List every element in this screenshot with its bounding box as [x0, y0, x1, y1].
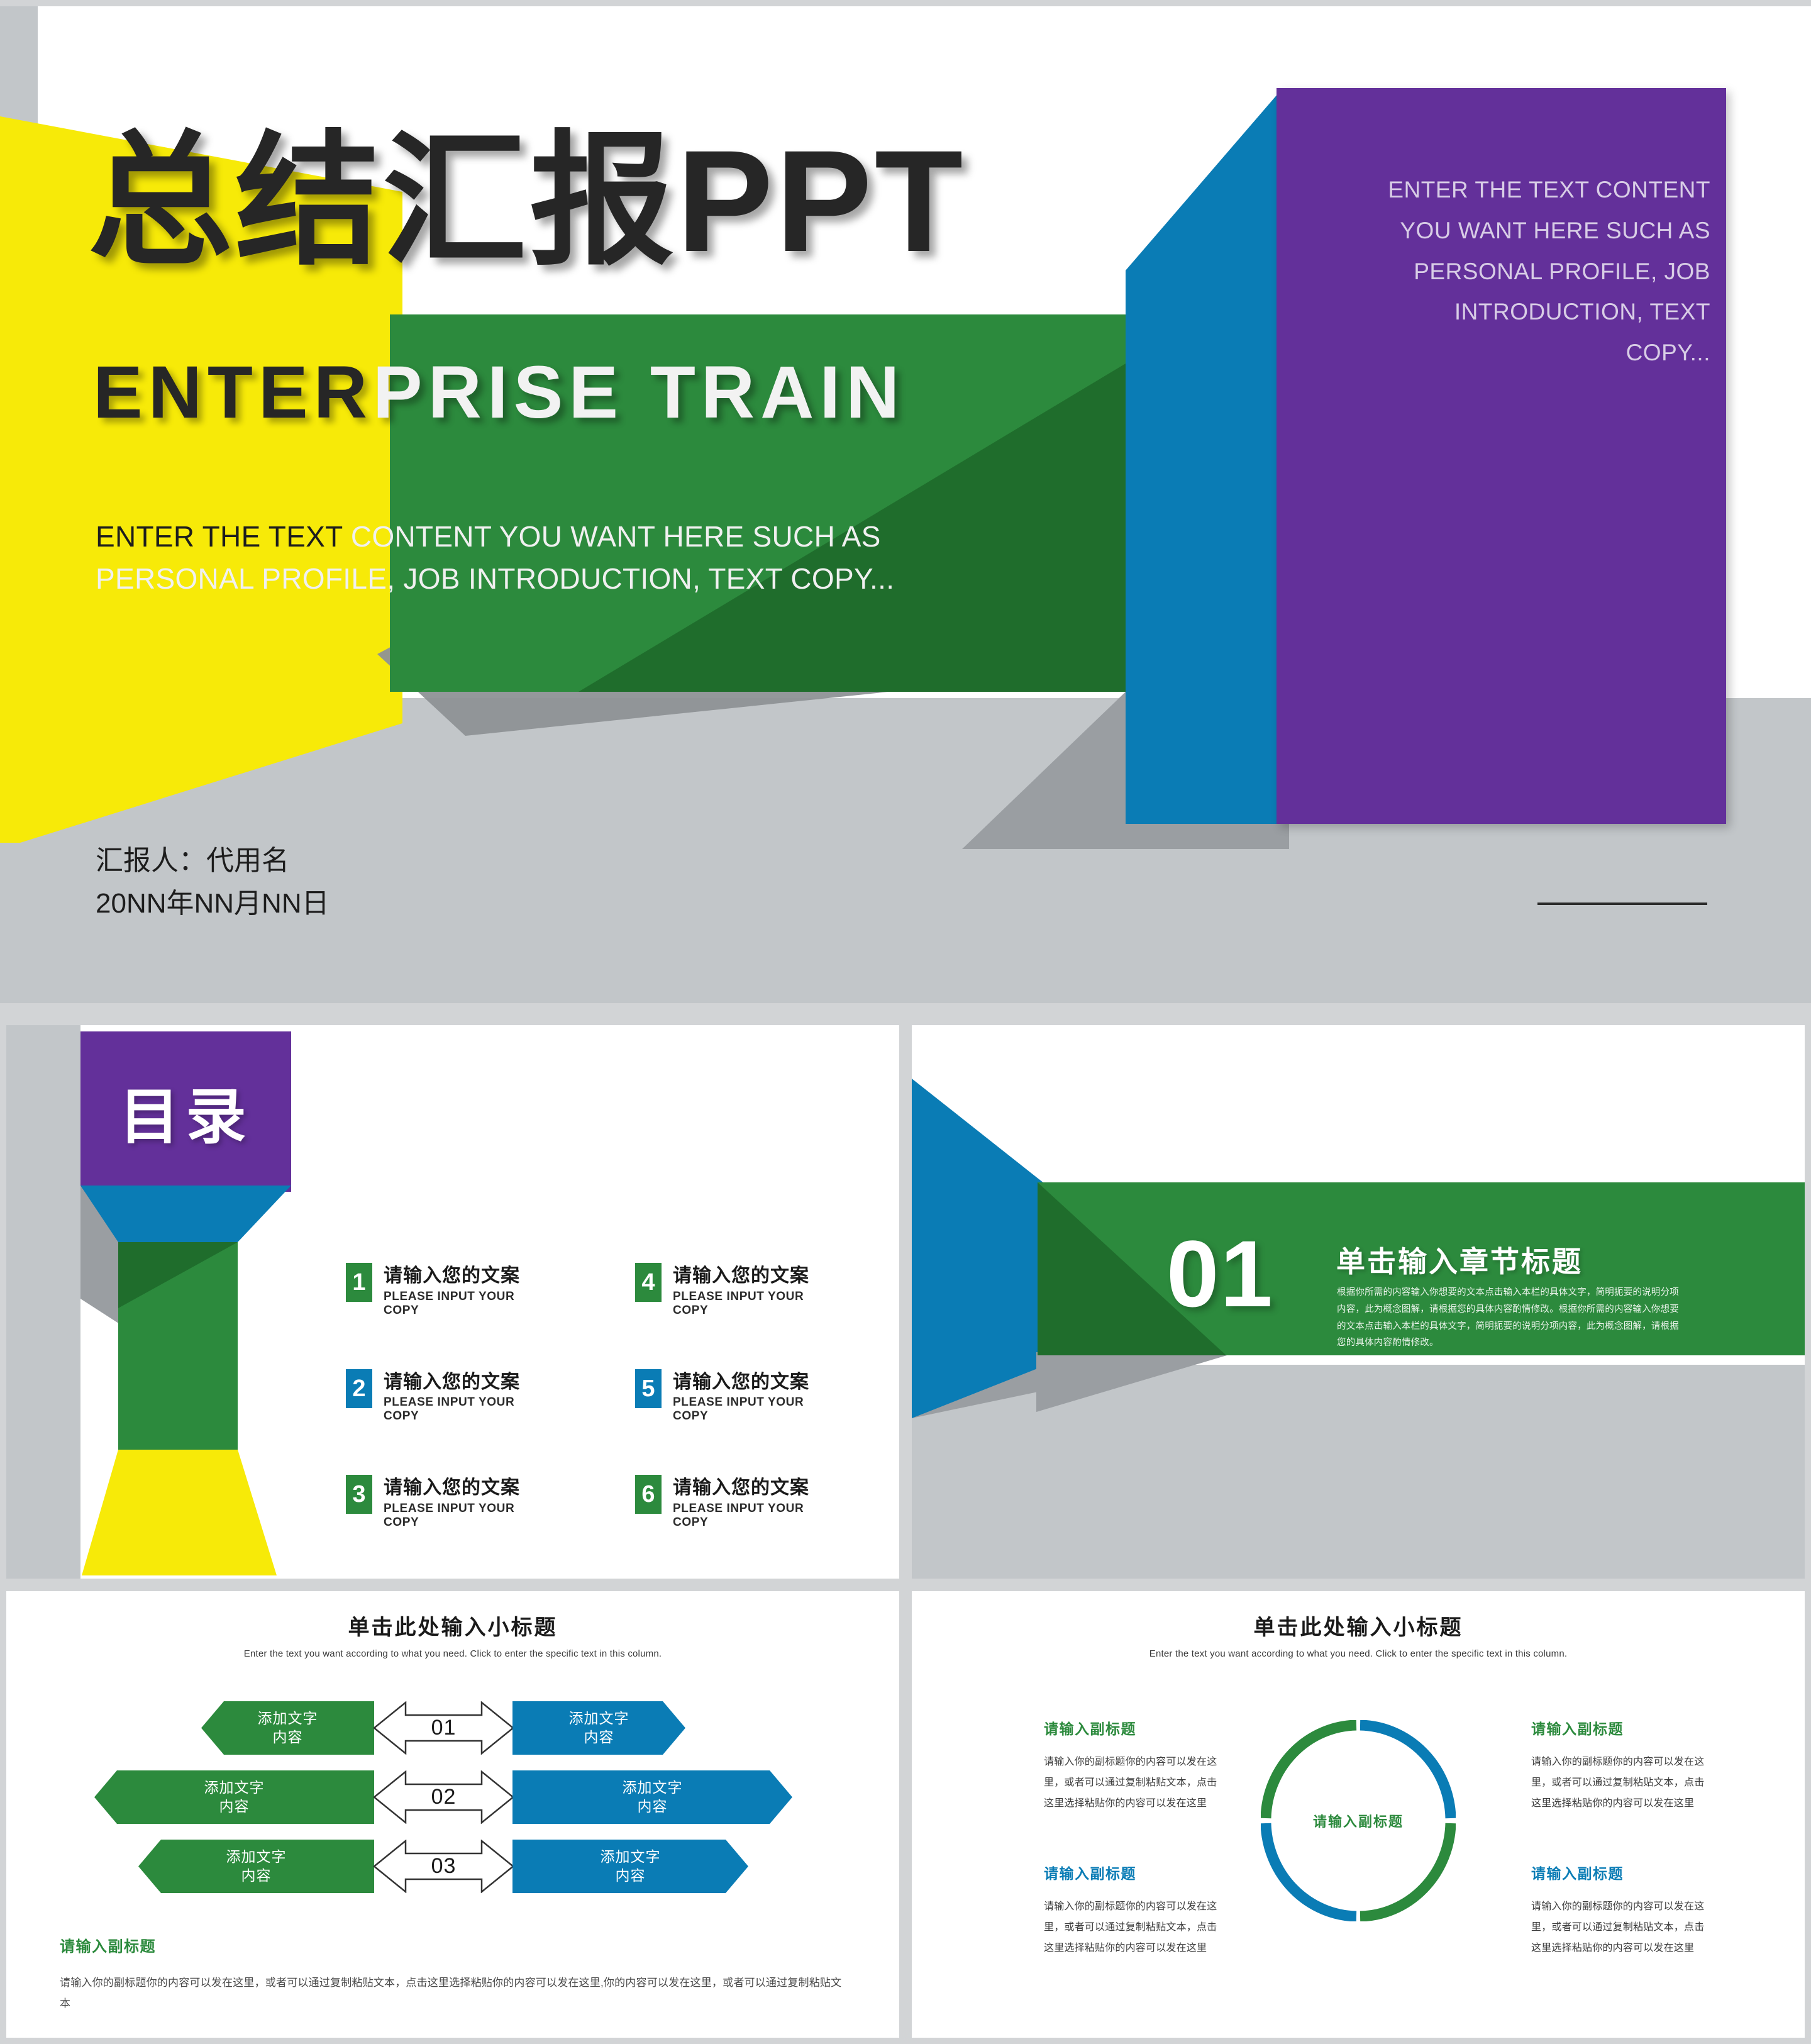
donut-heading: 单击此处输入小标题: [912, 1610, 1805, 1641]
arrows-slide: 单击此处输入小标题 Enter the text you want accord…: [6, 1591, 899, 2038]
toc-badge-4: 4: [635, 1263, 662, 1302]
arrow-number-3: 03: [373, 1840, 514, 1893]
toc-item-1[interactable]: 1 请输入您的文案 PLEASE INPUT YOUR COPY: [346, 1263, 553, 1318]
arrows-footer-title: 请输入副标题: [60, 1934, 846, 1956]
section-title: 单击输入章节标题: [1336, 1239, 1583, 1280]
arrow-marker-1[interactable]: 01: [373, 1701, 514, 1755]
donut-slide: 单击此处输入小标题 Enter the text you want accord…: [912, 1591, 1805, 2038]
arrow-left-1[interactable]: 添加文字内容: [201, 1701, 374, 1755]
section-body-text: 根据你所需的内容输入你想要的文本点击输入本栏的具体文字，简明扼要的说明分项内容，…: [1337, 1284, 1680, 1352]
blue-panel-shape: [1126, 88, 1283, 824]
arrows-diagram: 添加文字内容 01 添加文字内容 添加文字内容 02 添: [6, 1701, 899, 1902]
section-divider-slide: 01 单击输入章节标题 根据你所需的内容输入你想要的文本点击输入本栏的具体文字，…: [912, 1025, 1805, 1579]
toc-gray-strip: [6, 1025, 80, 1579]
donut-block-bottom-left: 请输入副标题 请输入你的副标题你的内容可以发在这里，或者可以通过复制粘贴文本，点…: [1044, 1862, 1223, 1958]
toc-badge-3: 3: [346, 1475, 372, 1514]
donut-block-text-4: 请输入你的副标题你的内容可以发在这里，或者可以通过复制粘贴文本，点击这里选择粘贴…: [1531, 1897, 1710, 1958]
arrow-row-1: 添加文字内容 01 添加文字内容: [6, 1701, 899, 1755]
arrows-footer-text: 请输入你的副标题你的内容可以发在这里，或者可以通过复制粘贴文本，点击这里选择粘贴…: [60, 1972, 846, 2014]
main-title-cn: 总结汇报PPT: [88, 129, 965, 274]
title-slide: ENTER THE TEXT CONTENT YOU WANT HERE SUC…: [0, 6, 1811, 1003]
toc-row: 2 请输入您的文案 PLEASE INPUT YOUR COPY 5 请输入您的…: [346, 1369, 874, 1424]
donut-block-text-2: 请输入你的副标题你的内容可以发在这里，或者可以通过复制粘贴文本，点击这里选择粘贴…: [1531, 1752, 1710, 1814]
donut-block-title-4: 请输入副标题: [1531, 1862, 1710, 1883]
arrow-right-2[interactable]: 添加文字内容: [512, 1770, 792, 1824]
arrow-marker-3[interactable]: 03: [373, 1840, 514, 1893]
toc-item-3[interactable]: 3 请输入您的文案 PLEASE INPUT YOUR COPY: [346, 1475, 553, 1530]
section-number: 01: [1166, 1226, 1274, 1321]
toc-label-cn-2: 请输入您的文案: [384, 1370, 553, 1394]
toc-row: 1 请输入您的文案 PLEASE INPUT YOUR COPY 4 请输入您的…: [346, 1263, 874, 1318]
toc-label-cn-1: 请输入您的文案: [384, 1264, 553, 1288]
arrow-right-1[interactable]: 添加文字内容: [512, 1701, 685, 1755]
toc-item-6[interactable]: 6 请输入您的文案 PLEASE INPUT YOUR COPY: [635, 1475, 843, 1530]
donut-center-label: 请输入副标题: [1261, 1720, 1456, 1921]
donut-block-text-1: 请输入你的副标题你的内容可以发在这里，或者可以通过复制粘贴文本，点击这里选择粘贴…: [1044, 1752, 1223, 1814]
donut-header: 单击此处输入小标题 Enter the text you want accord…: [912, 1610, 1805, 1659]
arrow-marker-2[interactable]: 02: [373, 1770, 514, 1824]
toc-label-cn-6: 请输入您的文案: [673, 1476, 843, 1500]
toc-label-en-1: PLEASE INPUT YOUR COPY: [384, 1290, 553, 1318]
arrows-heading: 单击此处输入小标题: [6, 1610, 899, 1641]
donut-block-top-left: 请输入副标题 请输入你的副标题你的内容可以发在这里，或者可以通过复制粘贴文本，点…: [1044, 1717, 1223, 1814]
donut-block-title-3: 请输入副标题: [1044, 1862, 1223, 1883]
toc-item-grid: 1 请输入您的文案 PLEASE INPUT YOUR COPY 4 请输入您的…: [346, 1263, 874, 1579]
purple-panel-text: ENTER THE TEXT CONTENT YOU WANT HERE SUC…: [1383, 170, 1710, 374]
arrow-right-3[interactable]: 添加文字内容: [512, 1840, 748, 1893]
arrows-subheading: Enter the text you want according to wha…: [6, 1648, 899, 1659]
toc-badge-6: 6: [635, 1475, 662, 1514]
toc-item-5[interactable]: 5 请输入您的文案 PLEASE INPUT YOUR COPY: [635, 1369, 843, 1424]
toc-item-4[interactable]: 4 请输入您的文案 PLEASE INPUT YOUR COPY: [635, 1263, 843, 1318]
arrow-left-2[interactable]: 添加文字内容: [94, 1770, 374, 1824]
donut-block-title-2: 请输入副标题: [1531, 1717, 1710, 1738]
arrow-number-2: 02: [373, 1770, 514, 1824]
toc-item-2[interactable]: 2 请输入您的文案 PLEASE INPUT YOUR COPY: [346, 1369, 553, 1424]
toc-label-en-4: PLEASE INPUT YOUR COPY: [673, 1290, 843, 1318]
toc-badge-1: 1: [346, 1263, 372, 1302]
arrow-number-1: 01: [373, 1701, 514, 1755]
slide-deck: ENTER THE TEXT CONTENT YOU WANT HERE SUC…: [0, 0, 1811, 2044]
arrow-left-3[interactable]: 添加文字内容: [138, 1840, 374, 1893]
toc-row: 3 请输入您的文案 PLEASE INPUT YOUR COPY 6 请输入您的…: [346, 1475, 874, 1530]
arrow-row-2: 添加文字内容 02 添加文字内容: [6, 1770, 899, 1824]
toc-label-en-6: PLEASE INPUT YOUR COPY: [673, 1502, 843, 1530]
presenter-name: 汇报人：代用名: [96, 840, 330, 882]
presenter-block: 汇报人：代用名 20NN年NN月NN日: [96, 840, 330, 925]
arrows-header: 单击此处输入小标题 Enter the text you want accord…: [6, 1610, 899, 1659]
toc-slide: 目录 1 请输入您的文案 PLEASE INPUT YOUR COPY 4 请输…: [6, 1025, 899, 1579]
toc-yellow-block: [82, 1450, 277, 1575]
presentation-date: 20NN年NN月NN日: [96, 882, 330, 925]
toc-label-cn-3: 请输入您的文案: [384, 1476, 553, 1500]
toc-label-en-2: PLEASE INPUT YOUR COPY: [384, 1396, 553, 1423]
toc-label-cn-4: 请输入您的文案: [673, 1264, 843, 1288]
arrow-row-3: 添加文字内容 03 添加文字内容: [6, 1840, 899, 1893]
donut-block-bottom-right: 请输入副标题 请输入你的副标题你的内容可以发在这里，或者可以通过复制粘贴文本，点…: [1531, 1862, 1710, 1958]
toc-label-en-5: PLEASE INPUT YOUR COPY: [673, 1396, 843, 1423]
main-title-en-light: PRISE TRAIN: [373, 351, 905, 434]
donut-block-top-right: 请输入副标题 请输入你的副标题你的内容可以发在这里，或者可以通过复制粘贴文本，点…: [1531, 1717, 1710, 1814]
toc-label-en-3: PLEASE INPUT YOUR COPY: [384, 1502, 553, 1530]
title-subtitle: ENTER THE TEXT CONTENT YOU WANT HERE SUC…: [96, 516, 938, 599]
arrows-footer: 请输入副标题 请输入你的副标题你的内容可以发在这里，或者可以通过复制粘贴文本，点…: [60, 1934, 846, 2014]
section-blue-wedge: [912, 1079, 1047, 1418]
main-title-en-dark: ENTER: [93, 351, 373, 434]
main-title-en: ENTERPRISE TRAIN: [93, 355, 905, 430]
toc-badge-5: 5: [635, 1369, 662, 1408]
decorative-rule: [1537, 903, 1707, 905]
donut-block-text-3: 请输入你的副标题你的内容可以发在这里，或者可以通过复制粘贴文本，点击这里选择粘贴…: [1044, 1897, 1223, 1958]
toc-label-cn-5: 请输入您的文案: [673, 1370, 843, 1394]
toc-badge-2: 2: [346, 1369, 372, 1408]
title-subtitle-dark: ENTER THE TEXT: [96, 520, 351, 553]
donut-block-title-1: 请输入副标题: [1044, 1717, 1223, 1738]
donut-subheading: Enter the text you want according to wha…: [912, 1648, 1805, 1659]
toc-heading: 目录: [80, 1031, 291, 1192]
